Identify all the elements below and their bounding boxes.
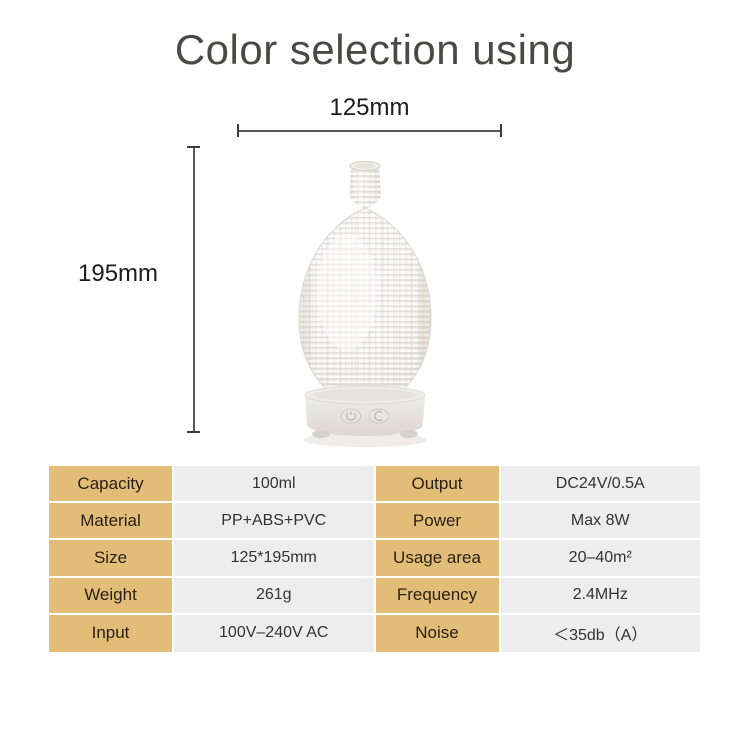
spec-label-material: Material (49, 503, 172, 540)
product-base (305, 386, 425, 438)
product-body (295, 202, 437, 412)
table-half-right: Usage area 20–40m² (376, 540, 701, 577)
width-dimension-cap-left (237, 124, 239, 137)
specifications-table: Capacity 100ml Output DC24V/0.5A Materia… (49, 466, 700, 652)
spec-label-noise: Noise (376, 615, 499, 652)
table-half-right: Frequency 2.4MHz (376, 578, 701, 615)
spec-value-capacity: 100ml (172, 466, 374, 503)
table-half-right: Output DC24V/0.5A (376, 466, 701, 503)
table-half-left: Capacity 100ml (49, 466, 374, 503)
spec-value-usage-area: 20–40m² (499, 540, 701, 577)
spec-label-weight: Weight (49, 578, 172, 615)
spec-label-size: Size (49, 540, 172, 577)
table-half-left: Material PP+ABS+PVC (49, 503, 374, 540)
width-dimension-rule (237, 130, 502, 132)
spec-value-size: 125*195mm (172, 540, 374, 577)
width-dimension-line (237, 130, 502, 131)
height-dimension-cap-bottom (187, 431, 200, 433)
table-half-left: Size 125*195mm (49, 540, 374, 577)
product-foot-right (400, 430, 418, 438)
table-row: Input 100V–240V AC Noise ＜35db（A） (49, 615, 700, 652)
spec-value-output: DC24V/0.5A (499, 466, 701, 503)
product-light-button[interactable] (370, 409, 389, 423)
spec-label-output: Output (376, 466, 499, 503)
spec-value-noise: ＜35db（A） (499, 615, 701, 652)
table-half-right: Noise ＜35db（A） (376, 615, 701, 652)
product-foot-left (312, 430, 330, 438)
product-power-button[interactable] (342, 409, 361, 423)
table-row: Material PP+ABS+PVC Power Max 8W (49, 503, 700, 540)
table-row: Capacity 100ml Output DC24V/0.5A (49, 466, 700, 503)
height-dimension-label: 195mm (78, 260, 158, 288)
product-neck (343, 162, 389, 213)
height-dimension-cap-top (187, 146, 200, 148)
spec-value-material: PP+ABS+PVC (172, 503, 374, 540)
table-row: Weight 261g Frequency 2.4MHz (49, 578, 700, 615)
spec-value-power: Max 8W (499, 503, 701, 540)
spec-label-capacity: Capacity (49, 466, 172, 503)
product-photo-rattan-diffuser (255, 152, 475, 452)
spec-label-frequency: Frequency (376, 578, 499, 615)
spec-label-usage-area: Usage area (376, 540, 499, 577)
spec-label-power: Power (376, 503, 499, 540)
spec-value-weight: 261g (172, 578, 374, 615)
spec-label-input: Input (49, 615, 172, 652)
spec-value-frequency: 2.4MHz (499, 578, 701, 615)
spec-value-input: 100V–240V AC (172, 615, 374, 652)
table-half-right: Power Max 8W (376, 503, 701, 540)
height-dimension-rule (193, 146, 195, 433)
width-dimension-cap-right (500, 124, 502, 137)
height-dimension-line (193, 146, 194, 433)
page-title: Color selection using (0, 26, 750, 74)
table-half-left: Input 100V–240V AC (49, 615, 374, 652)
table-half-left: Weight 261g (49, 578, 374, 615)
table-row: Size 125*195mm Usage area 20–40m² (49, 540, 700, 577)
width-dimension-label: 125mm (237, 94, 502, 122)
product-diagram: 125mm 195mm (0, 90, 750, 460)
